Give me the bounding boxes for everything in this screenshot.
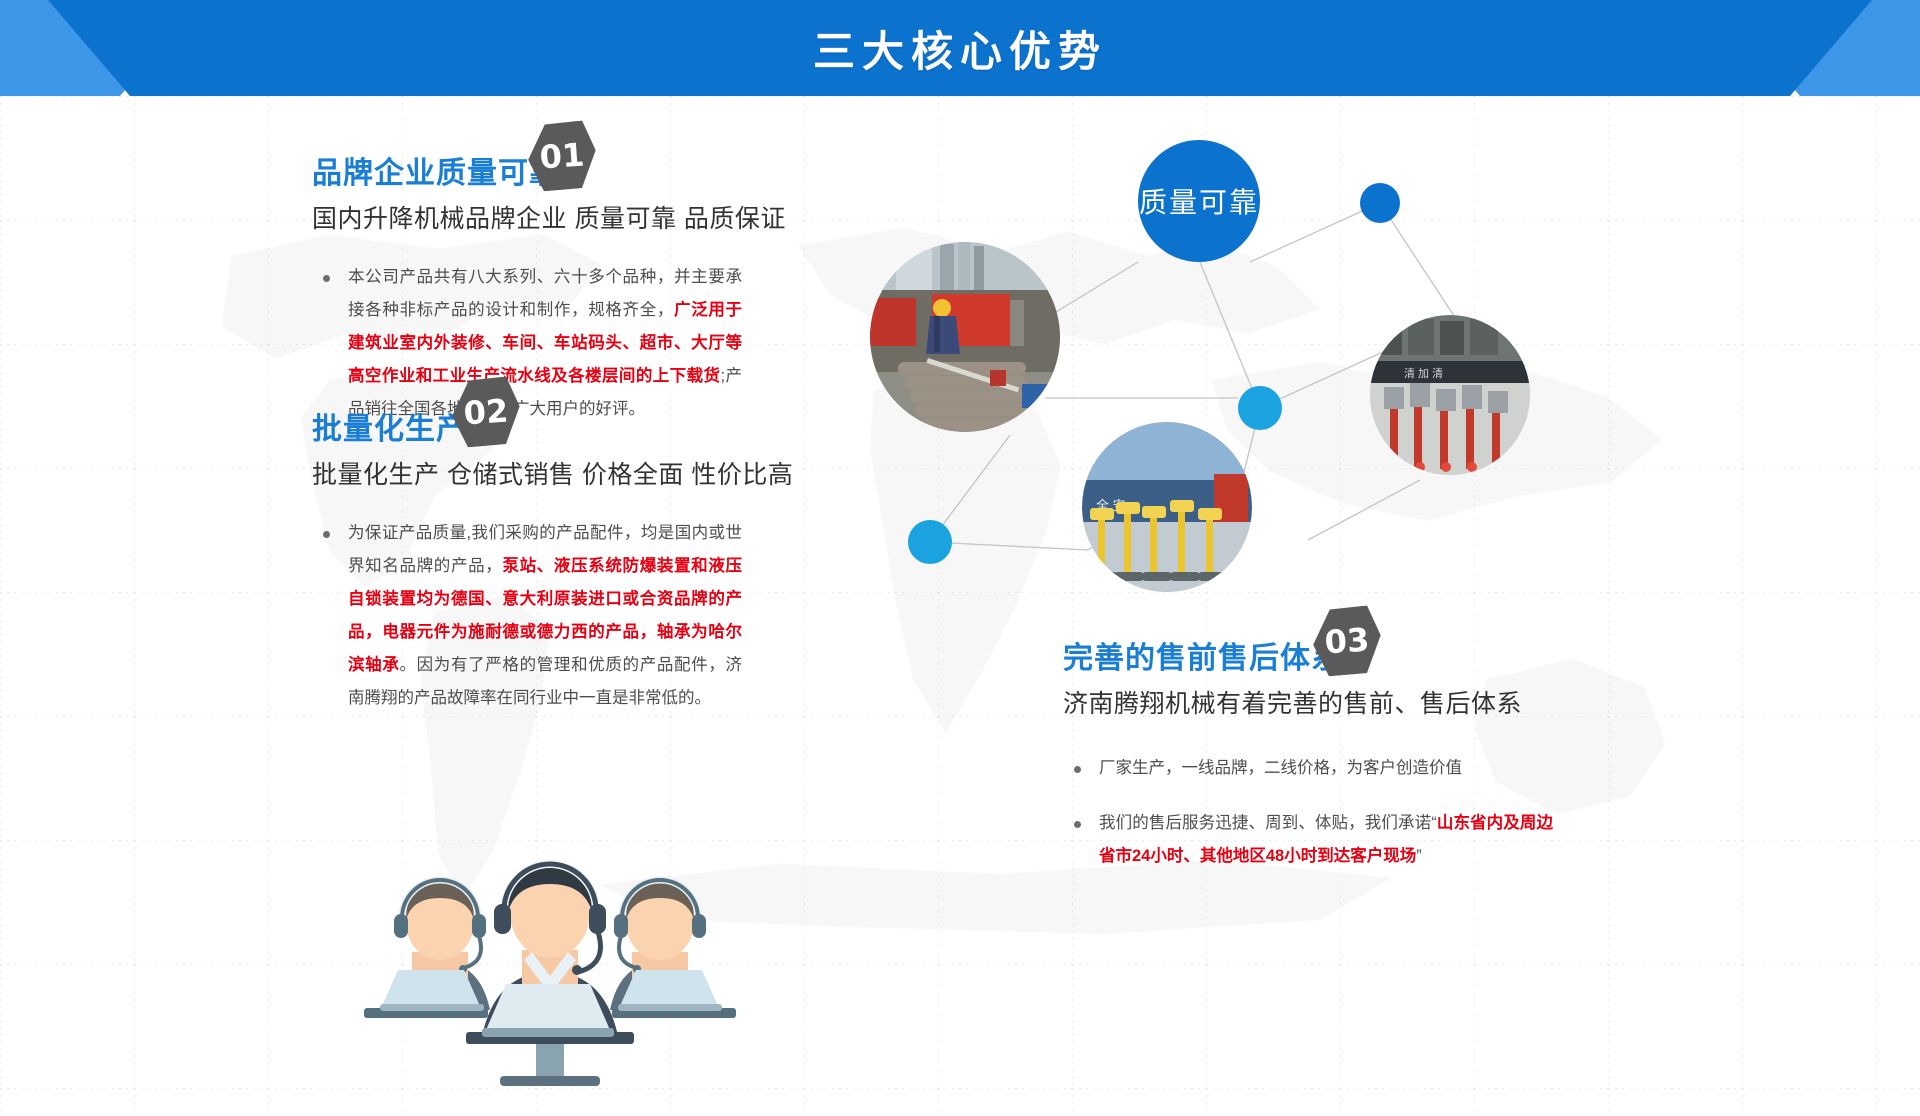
section-02-subtitle: 批量化生产 仓储式销售 价格全面 性价比高 <box>312 455 742 491</box>
advantages-infographic-page: 三大核心优势 品牌企业质量可靠 01 国内升降机械品牌企业 质量可靠 品质保证 … <box>0 0 1920 1116</box>
section-01-title: 品牌企业质量可靠 <box>312 148 560 192</box>
yellow-lifts-yard-photo: 全 安 <box>1082 422 1252 592</box>
section-01-head: 品牌企业质量可靠 01 <box>312 140 742 192</box>
customer-service-team-illustration <box>350 800 750 1090</box>
section-02: 批量化生产 02 批量化生产 仓储式销售 价格全面 性价比高 为保证产品质量,我… <box>312 396 742 715</box>
bullet-text-plain-tail: ” <box>1416 847 1422 865</box>
section-03-title: 完善的售前售后体系 <box>1063 633 1342 677</box>
node-center-icon <box>1238 386 1282 430</box>
section-03: 完善的售前售后体系 03 济南腾翔机械有着完善的售前、售后体系 厂家生产，一线品… <box>1063 625 1553 873</box>
list-item: 我们的售后服务迅捷、周到、体贴，我们承诺“山东省内及周边省市24小时、其他地区4… <box>1063 807 1553 873</box>
quality-reliable-node: 质量可靠 <box>1138 140 1260 262</box>
section-02-head: 批量化生产 02 <box>312 396 742 448</box>
section-03-bullets: 厂家生产，一线品牌，二线价格，为客户创造价值 我们的售后服务迅捷、周到、体贴，我… <box>1063 752 1553 873</box>
page-title: 三大核心优势 <box>0 0 1920 96</box>
section-01-subtitle: 国内升降机械品牌企业 质量可靠 品质保证 <box>312 199 742 235</box>
node-top-right-icon <box>1360 183 1400 223</box>
list-item: 厂家生产，一线品牌，二线价格，为客户创造价值 <box>1063 752 1553 785</box>
desk-row <box>364 970 736 1086</box>
factory-cutting-machine-photo <box>870 242 1060 432</box>
section-01: 品牌企业质量可靠 01 国内升降机械品牌企业 质量可靠 品质保证 本公司产品共有… <box>312 140 742 426</box>
network-diagram: 质量可靠 <box>860 150 1560 620</box>
lift-showroom-photo: 清 加 清 <box>1370 315 1530 475</box>
bullet-text-plain: 我们的售后服务迅捷、周到、体贴，我们承诺“ <box>1099 814 1437 832</box>
section-03-head: 完善的售前售后体系 03 <box>1063 625 1553 677</box>
svg-text:清 加 清: 清 加 清 <box>1404 367 1443 380</box>
section-02-bullets: 为保证产品质量,我们采购的产品配件，均是国内或世界知名品牌的产品，泵站、液压系统… <box>312 517 742 715</box>
list-item: 为保证产品质量,我们采购的产品配件，均是国内或世界知名品牌的产品，泵站、液压系统… <box>312 517 742 715</box>
bullet-text-plain-tail: 。因为有了严格的管理和优质的产品配件，济南腾翔的产品故障率在同行业中一直是非常低… <box>348 656 742 707</box>
bullet-text-plain: 厂家生产，一线品牌，二线价格，为客户创造价值 <box>1099 759 1462 777</box>
section-03-subtitle: 济南腾翔机械有着完善的售前、售后体系 <box>1063 684 1553 720</box>
node-bottom-left-icon <box>908 520 952 564</box>
section-02-title: 批量化生产 <box>312 404 467 448</box>
